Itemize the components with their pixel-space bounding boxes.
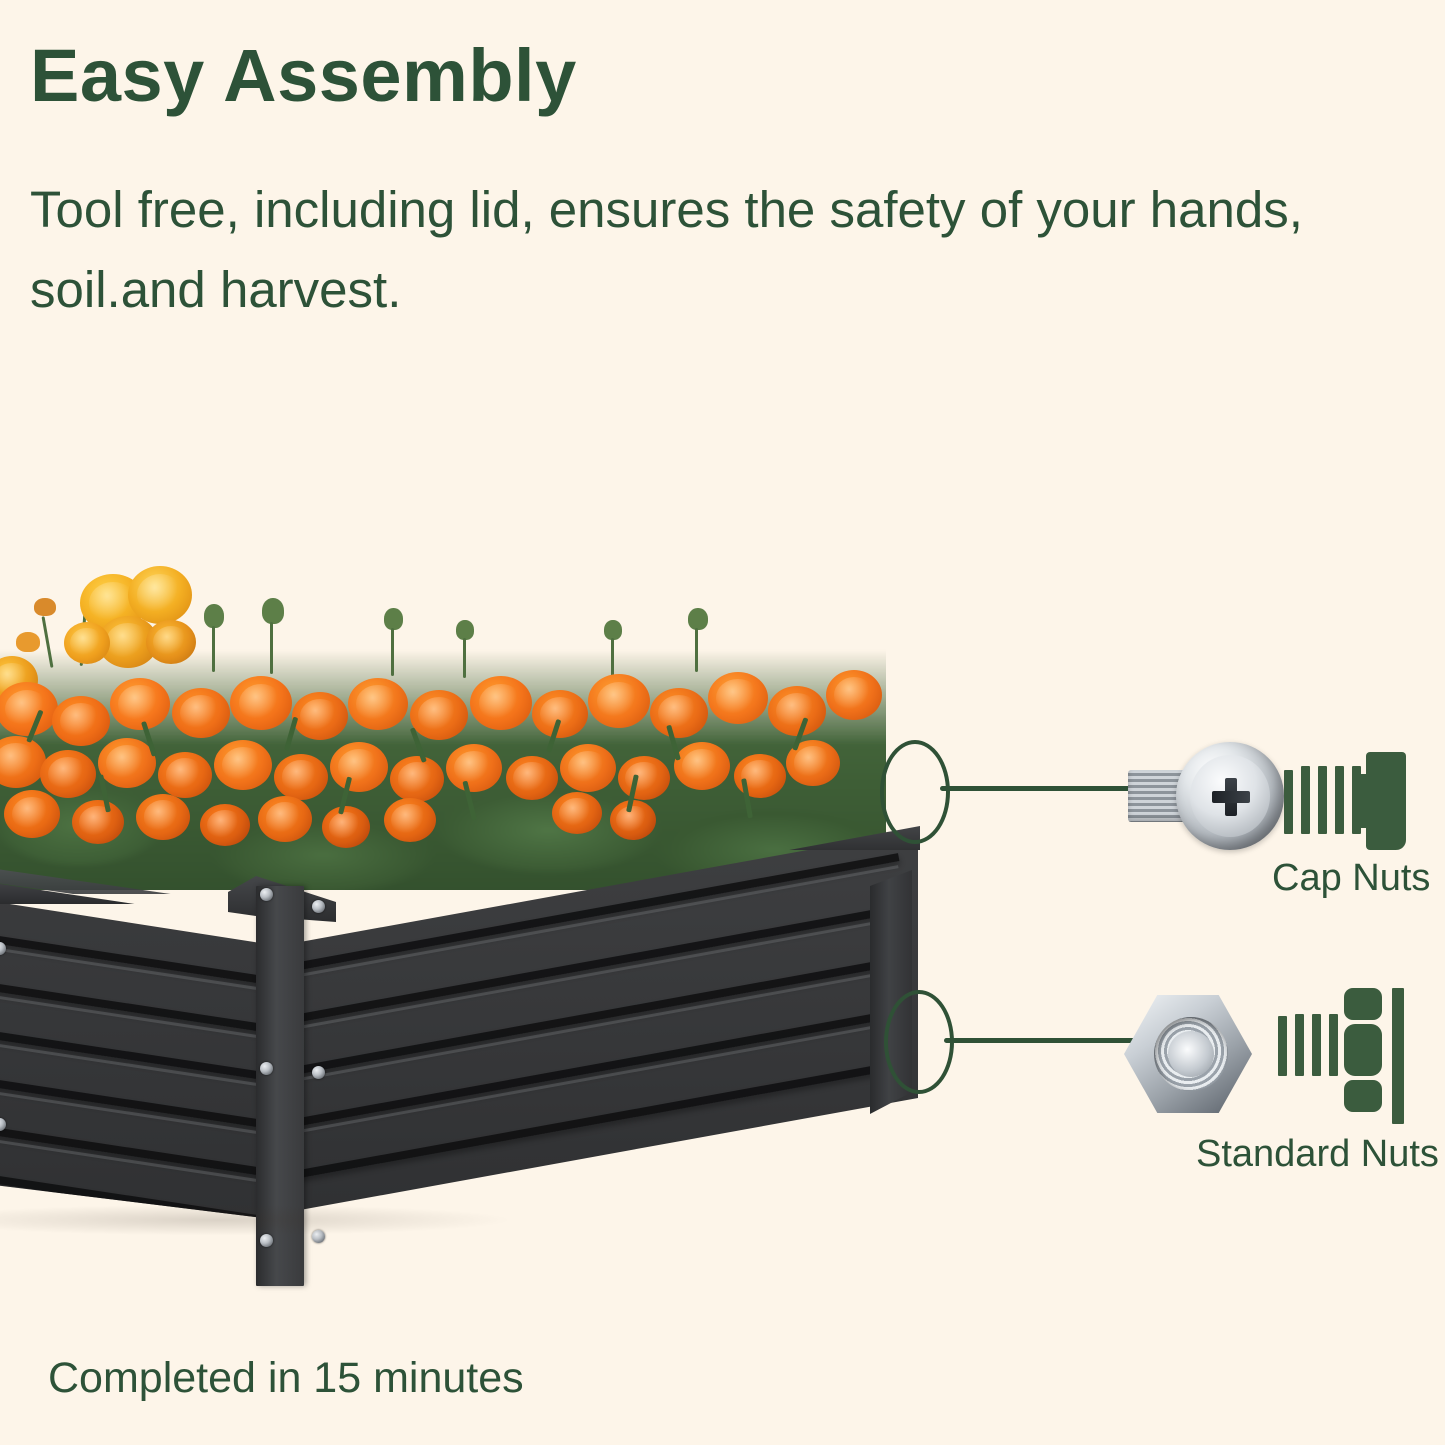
phillips-cross-icon xyxy=(1212,778,1250,816)
cap-nut-leader-line xyxy=(940,786,1136,791)
cap-nut-schematic-icon xyxy=(1284,752,1406,850)
cap-nut-highlight-ellipse xyxy=(880,740,950,844)
planter-left-panel xyxy=(0,890,280,1220)
standard-nuts-label: Standard Nuts xyxy=(1196,1132,1439,1176)
planter-right-panel xyxy=(278,830,918,1230)
product-photo xyxy=(0,540,960,1280)
raised-garden-bed-box xyxy=(0,830,960,1280)
hex-nut-threaded-hole xyxy=(1154,1017,1228,1091)
page-title: Easy Assembly xyxy=(30,34,577,118)
page-subtitle: Tool free, including lid, ensures the sa… xyxy=(30,170,1320,330)
standard-nut-schematic-icon xyxy=(1278,988,1406,1124)
infographic-canvas: Easy Assembly Tool free, including lid, … xyxy=(0,0,1445,1445)
screw-icon xyxy=(260,1062,273,1075)
cap-nut-photo xyxy=(1128,742,1294,854)
standard-nut-photo xyxy=(1124,995,1252,1113)
cap-nuts-label: Cap Nuts xyxy=(1272,856,1430,900)
completion-time-note: Completed in 15 minutes xyxy=(48,1352,524,1404)
ground-shadow xyxy=(0,1190,910,1250)
screw-icon xyxy=(312,1066,325,1079)
screw-icon xyxy=(260,888,273,901)
screw-icon xyxy=(312,900,325,913)
standard-nut-leader-line xyxy=(944,1038,1140,1043)
